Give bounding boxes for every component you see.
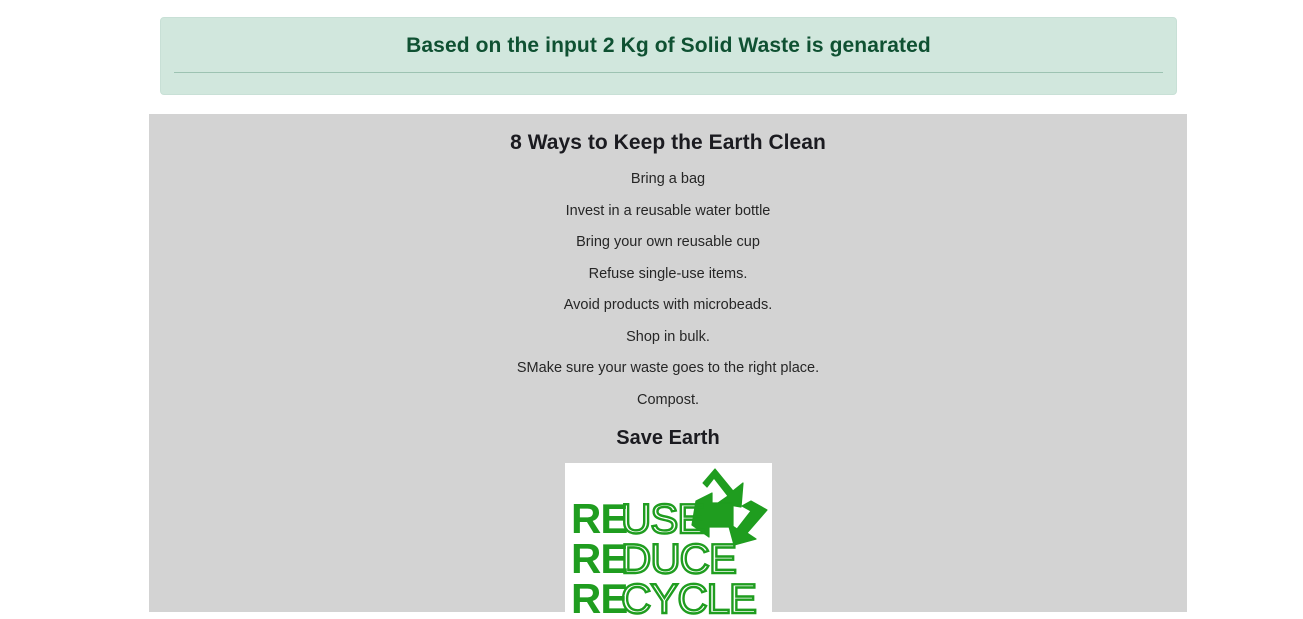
result-alert: Based on the input 2 Kg of Solid Waste i… xyxy=(160,17,1177,95)
list-item: Shop in bulk. xyxy=(159,330,1177,345)
list-item: Refuse single-use items. xyxy=(159,267,1177,282)
tips-list: Bring a bag Invest in a reusable water b… xyxy=(159,172,1177,407)
svg-text:CYCLE: CYCLE xyxy=(621,575,756,619)
list-item: Compost. xyxy=(159,393,1177,408)
alert-message: Based on the input 2 Kg of Solid Waste i… xyxy=(173,31,1164,60)
tips-card: 8 Ways to Keep the Earth Clean Bring a b… xyxy=(149,114,1187,612)
page-root: Based on the input 2 Kg of Solid Waste i… xyxy=(0,0,1303,619)
card-subtitle: Save Earth xyxy=(159,425,1177,451)
list-item: Invest in a reusable water bottle xyxy=(159,204,1177,219)
svg-text:RE: RE xyxy=(571,575,627,619)
list-item: Bring your own reusable cup xyxy=(159,235,1177,250)
alert-divider xyxy=(174,72,1163,73)
card-title: 8 Ways to Keep the Earth Clean xyxy=(159,128,1177,158)
list-item: SMake sure your waste goes to the right … xyxy=(159,361,1177,376)
recycle-logo-image: RE USE RE DUCE RE CYCLE xyxy=(565,463,772,619)
list-item: Avoid products with microbeads. xyxy=(159,298,1177,313)
list-item: Bring a bag xyxy=(159,172,1177,187)
recycle-logo-icon: RE USE RE DUCE RE CYCLE xyxy=(565,463,772,619)
